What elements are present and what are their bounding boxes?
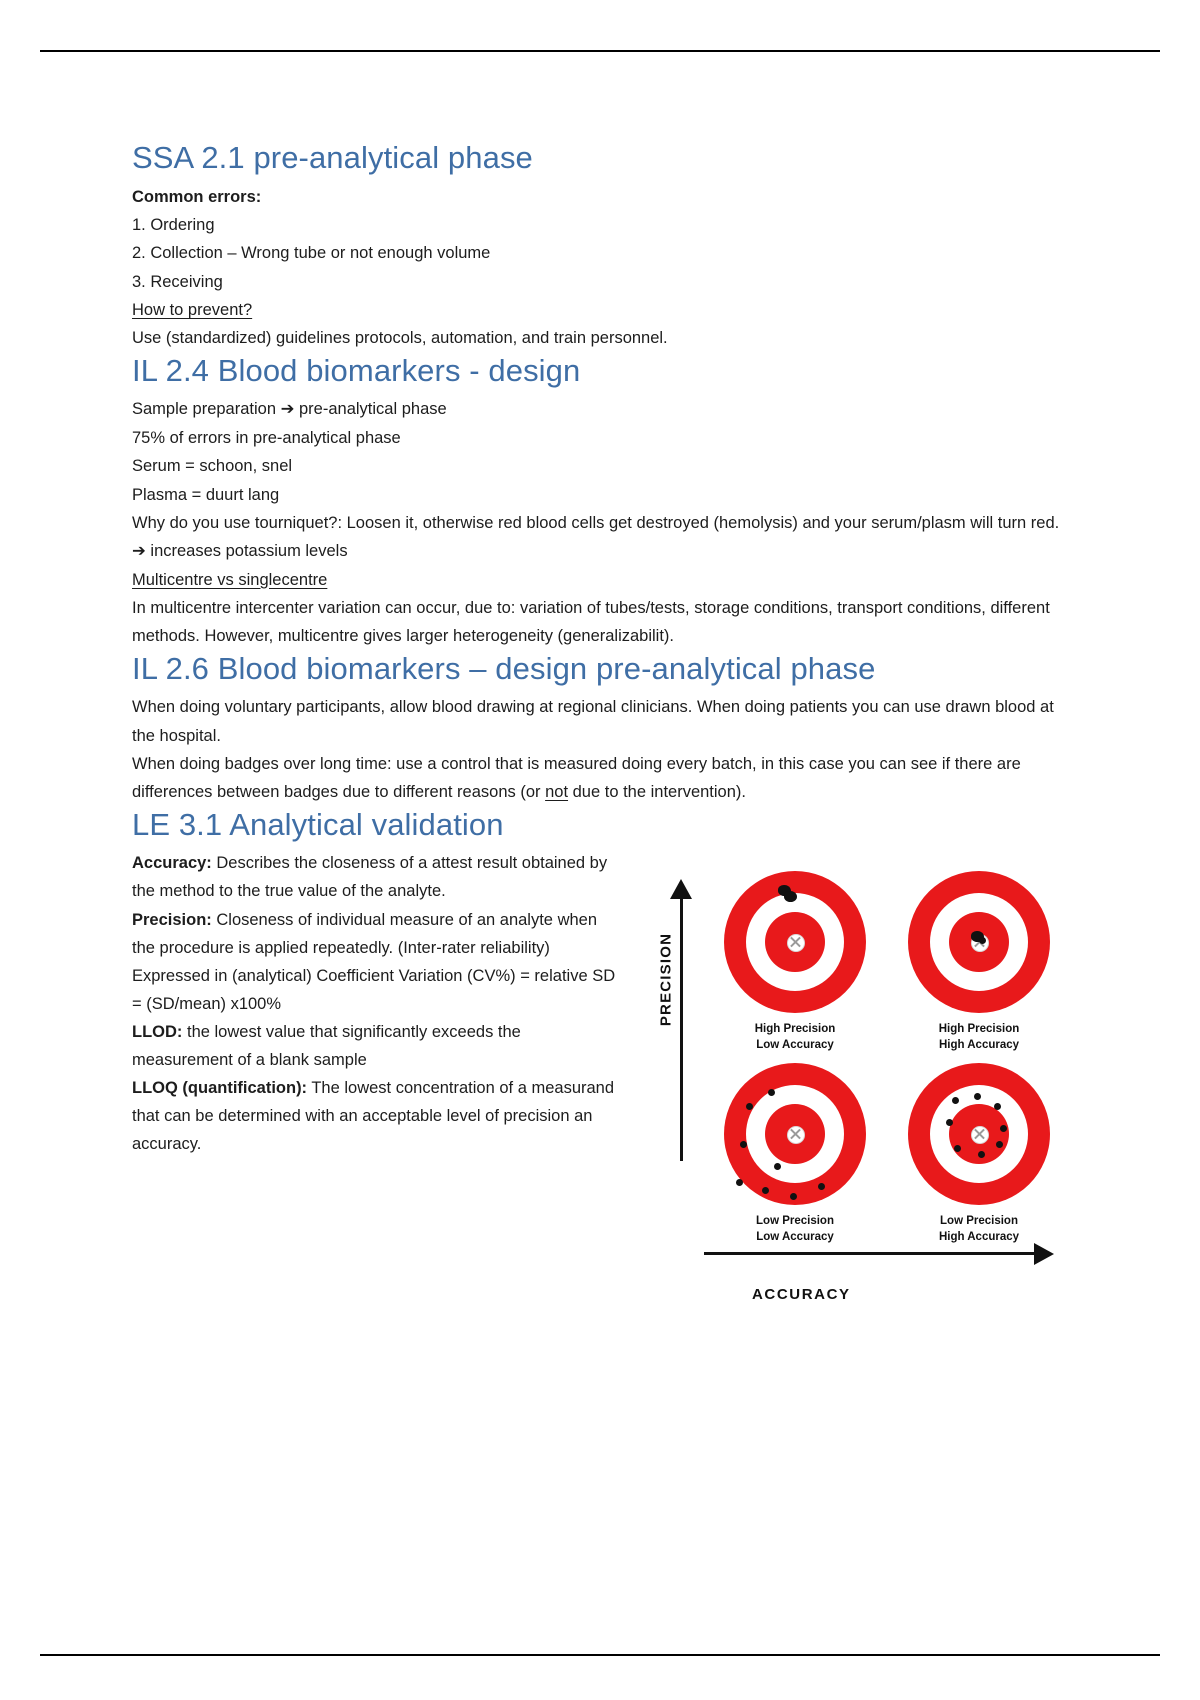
bullseye-icon	[724, 1063, 866, 1205]
shot-mark	[762, 1187, 769, 1194]
bullseye-icon	[908, 1063, 1050, 1205]
precision-accuracy-figure: PRECISION High Precision	[642, 871, 1072, 1311]
page-bottom-rule	[40, 1654, 1160, 1656]
analytical-validation-text-column: Accuracy: Describes the closeness of a a…	[132, 849, 622, 1158]
target-caption-line-1: Low Precision	[712, 1214, 878, 1230]
coefficient-variation-paragraph: Expressed in (analytical) Coefficient Va…	[132, 962, 622, 1018]
heading-le-3-1: LE 3.1 Analytical validation	[132, 807, 1072, 844]
shot-mark	[736, 1179, 743, 1186]
definition-llod-term: LLOD:	[132, 1023, 182, 1041]
precision-axis-label: PRECISION	[658, 920, 675, 1040]
target-caption-line-2: Low Accuracy	[712, 1038, 878, 1054]
target-high-precision-high-accuracy: High Precision High Accuracy	[896, 871, 1062, 1057]
target-grid: High Precision Low Accuracy	[712, 871, 1062, 1251]
multicentre-subheading: Multicentre vs singlecentre	[132, 566, 1072, 594]
common-errors-label: Common errors:	[132, 183, 1072, 211]
badges-control-paragraph: When doing badges over long time: use a …	[132, 750, 1072, 807]
target-caption-line-1: High Precision	[712, 1022, 878, 1038]
how-to-prevent-text: How to prevent?	[132, 301, 252, 319]
error-item-2: 2. Collection – Wrong tube or not enough…	[132, 239, 1072, 267]
multicentre-subheading-text: Multicentre vs singlecentre	[132, 571, 327, 589]
accuracy-axis-arrow-icon	[704, 1241, 1054, 1267]
tourniquet-paragraph: Why do you use tourniquet?: Loosen it, o…	[132, 509, 1072, 566]
badges-text-part-2: due to the intervention).	[568, 783, 746, 801]
heading-il-2-6: IL 2.6 Blood biomarkers – design pre-ana…	[132, 651, 1072, 688]
definition-llod-text: the lowest value that significantly exce…	[132, 1023, 521, 1069]
shot-mark	[790, 1193, 797, 1200]
accuracy-axis-label: ACCURACY	[752, 1286, 851, 1303]
heading-ssa-2-1: SSA 2.1 pre-analytical phase	[132, 140, 1072, 177]
how-to-prevent-subheading: How to prevent?	[132, 296, 1072, 324]
target-low-precision-high-accuracy: Low Precision High Accuracy	[896, 1063, 1062, 1249]
target-caption-line-1: High Precision	[896, 1022, 1062, 1038]
serum-line: Serum = schoon, snel	[132, 452, 1072, 480]
errors-percentage-line: 75% of errors in pre-analytical phase	[132, 424, 1072, 452]
plasma-line: Plasma = duurt lang	[132, 481, 1072, 509]
target-caption: High Precision High Accuracy	[896, 1022, 1062, 1053]
definition-lloq-term: LLOQ (quantification):	[132, 1079, 307, 1097]
target-caption-line-1: Low Precision	[896, 1214, 1062, 1230]
definition-precision: Precision: Closeness of individual measu…	[132, 906, 622, 962]
definition-llod: LLOD: the lowest value that significantl…	[132, 1018, 622, 1074]
target-caption: High Precision Low Accuracy	[712, 1022, 878, 1053]
bullseye-icon	[724, 871, 866, 1013]
prevent-text: Use (standardized) guidelines protocols,…	[132, 324, 1072, 352]
page-top-rule	[40, 50, 1160, 52]
error-item-1: 1. Ordering	[132, 211, 1072, 239]
multicentre-paragraph: In multicentre intercenter variation can…	[132, 594, 1072, 651]
heading-il-2-4: IL 2.4 Blood biomarkers - design	[132, 353, 1072, 390]
shot-mark	[818, 1183, 825, 1190]
voluntary-participants-paragraph: When doing voluntary participants, allow…	[132, 693, 1072, 750]
document-page: SSA 2.1 pre-analytical phase Common erro…	[0, 0, 1200, 1700]
badges-emphasis-not: not	[545, 783, 568, 801]
target-caption-line-2: High Accuracy	[896, 1038, 1062, 1054]
definition-accuracy: Accuracy: Describes the closeness of a a…	[132, 849, 622, 905]
definition-lloq: LLOQ (quantification): The lowest concen…	[132, 1074, 622, 1158]
definition-accuracy-term: Accuracy:	[132, 854, 212, 872]
target-low-precision-low-accuracy: Low Precision Low Accuracy	[712, 1063, 878, 1249]
definition-precision-term: Precision:	[132, 911, 212, 929]
analytical-validation-block: Accuracy: Describes the closeness of a a…	[132, 849, 1072, 1158]
bullseye-icon	[908, 871, 1050, 1013]
document-content: SSA 2.1 pre-analytical phase Common erro…	[132, 140, 1072, 1158]
target-high-precision-low-accuracy: High Precision Low Accuracy	[712, 871, 878, 1057]
shot-mark	[740, 1141, 747, 1148]
error-item-3: 3. Receiving	[132, 268, 1072, 296]
sample-preparation-line: Sample preparation ➔ pre-analytical phas…	[132, 395, 1072, 423]
